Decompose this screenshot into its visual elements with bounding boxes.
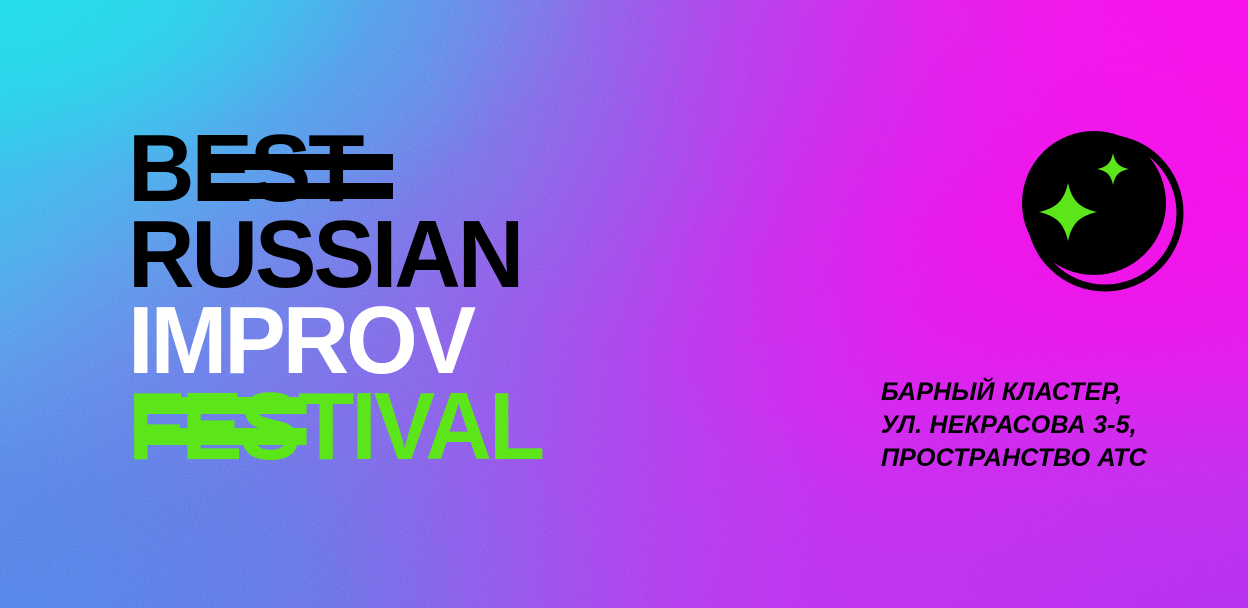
festival-poster: BEST RUSSIAN IMPROV FESTIVAL: [0, 0, 1248, 608]
crescent-moon-logo: [1012, 121, 1188, 293]
headline-line-best: BEST: [128, 126, 542, 212]
address-line-3: ПРОСТРАНСТВО АТС: [881, 442, 1147, 475]
headline-line-improv: IMPROV: [128, 298, 542, 384]
headline-line-russian: RUSSIAN: [128, 212, 542, 298]
headline-line-festival: FESTIVAL: [128, 384, 542, 470]
headline-line-festival-text: FESTIVAL: [128, 373, 542, 480]
address-line-1: БАРНЫЙ КЛАСТЕР,: [881, 376, 1147, 409]
venue-address: БАРНЫЙ КЛАСТЕР, УЛ. НЕКРАСОВА 3-5, ПРОСТ…: [881, 376, 1147, 475]
headline-block: BEST RUSSIAN IMPROV FESTIVAL: [128, 126, 559, 470]
moon-disc-icon: [1022, 131, 1166, 275]
address-line-2: УЛ. НЕКРАСОВА 3-5,: [881, 409, 1147, 442]
